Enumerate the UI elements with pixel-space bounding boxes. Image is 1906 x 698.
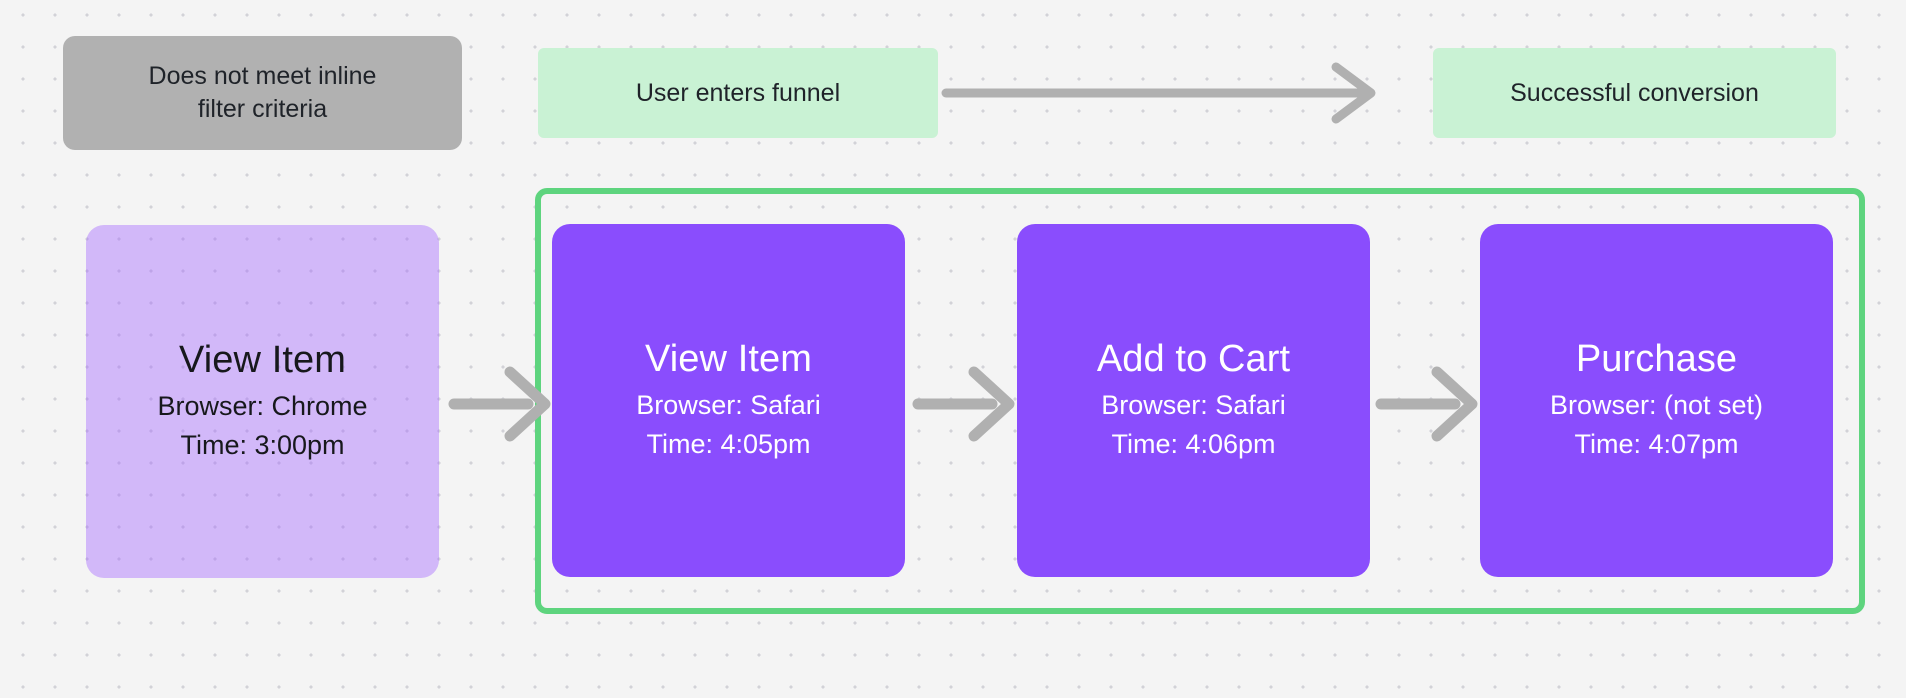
legend-funnel-entry-box: User enters funnel <box>538 48 938 138</box>
legend-successful-conversion-label: Successful conversion <box>1510 77 1759 110</box>
event-card-time: Time: 3:00pm <box>180 426 344 465</box>
legend-excluded-criteria-box: Does not meet inline filter criteria <box>63 36 462 150</box>
event-card-title: Purchase <box>1576 337 1737 382</box>
event-card-title: Add to Cart <box>1097 337 1290 382</box>
legend-excluded-line-2: filter criteria <box>198 93 327 126</box>
legend-excluded-line-1: Does not meet inline <box>149 60 377 93</box>
legend-successful-conversion-box: Successful conversion <box>1433 48 1836 138</box>
diagram-canvas: Does not meet inline filter criteria Use… <box>0 0 1906 698</box>
event-card-browser: Browser: Chrome <box>157 387 367 426</box>
legend-arrow-icon <box>940 58 1390 128</box>
event-card-step-2-add-to-cart[interactable]: Add to Cart Browser: Safari Time: 4:06pm <box>1017 224 1370 577</box>
event-card-time: Time: 4:06pm <box>1111 425 1275 464</box>
event-card-step-3-purchase[interactable]: Purchase Browser: (not set) Time: 4:07pm <box>1480 224 1833 577</box>
event-card-browser: Browser: Safari <box>636 386 821 425</box>
event-card-title: View Item <box>179 338 346 383</box>
event-card-time: Time: 4:07pm <box>1574 425 1738 464</box>
event-card-browser: Browser: Safari <box>1101 386 1286 425</box>
event-card-browser: Browser: (not set) <box>1550 386 1763 425</box>
event-card-title: View Item <box>645 337 812 382</box>
event-card-excluded-view-item[interactable]: View Item Browser: Chrome Time: 3:00pm <box>86 225 439 578</box>
event-card-time: Time: 4:05pm <box>646 425 810 464</box>
legend-funnel-entry-label: User enters funnel <box>636 77 840 110</box>
event-card-step-1-view-item[interactable]: View Item Browser: Safari Time: 4:05pm <box>552 224 905 577</box>
